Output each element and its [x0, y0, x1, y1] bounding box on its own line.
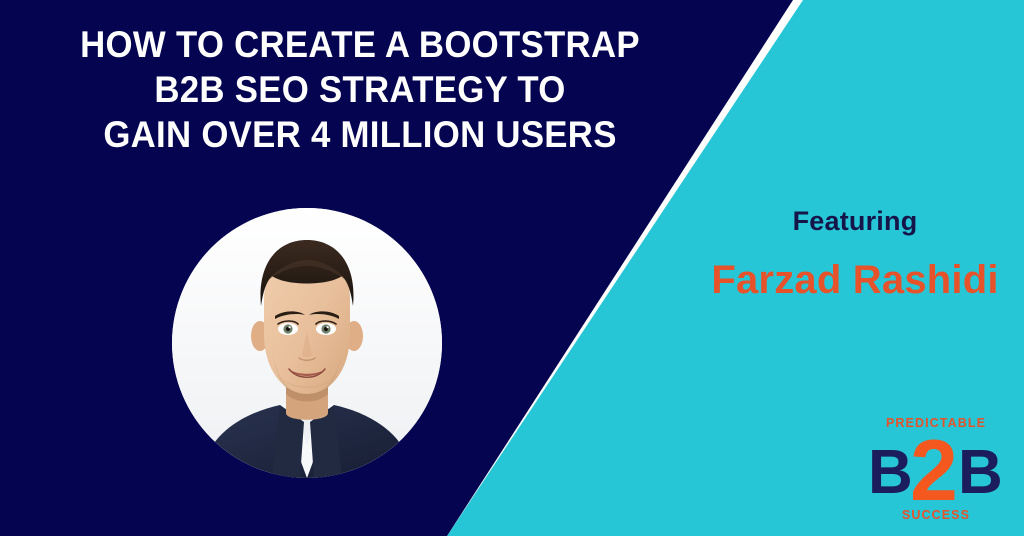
logo-b2b-mark: B 2 B: [866, 428, 1006, 506]
page-title: HOW TO CREATE A BOOTSTRAP B2B SEO STRATE…: [22, 22, 699, 157]
headline-line-3: GAIN OVER 4 MILLION USERS: [22, 112, 699, 157]
featuring-label: Featuring: [700, 206, 1010, 237]
logo-letter-b-right: B: [958, 442, 1003, 504]
logo-letter-b-left: B: [868, 442, 913, 504]
speaker-photo: [172, 208, 442, 478]
headline-line-2: B2B SEO STRATEGY TO: [22, 67, 699, 112]
logo-digit-two: 2: [910, 428, 958, 514]
speaker-name: Farzad Rashidi: [690, 258, 1020, 303]
promo-graphic: HOW TO CREATE A BOOTSTRAP B2B SEO STRATE…: [0, 0, 1024, 536]
logo-bottom-text: SUCCESS: [866, 508, 1006, 522]
brand-logo: PREDICTABLE B 2 B SUCCESS: [866, 416, 1006, 528]
headline-line-1: HOW TO CREATE A BOOTSTRAP: [22, 22, 699, 67]
